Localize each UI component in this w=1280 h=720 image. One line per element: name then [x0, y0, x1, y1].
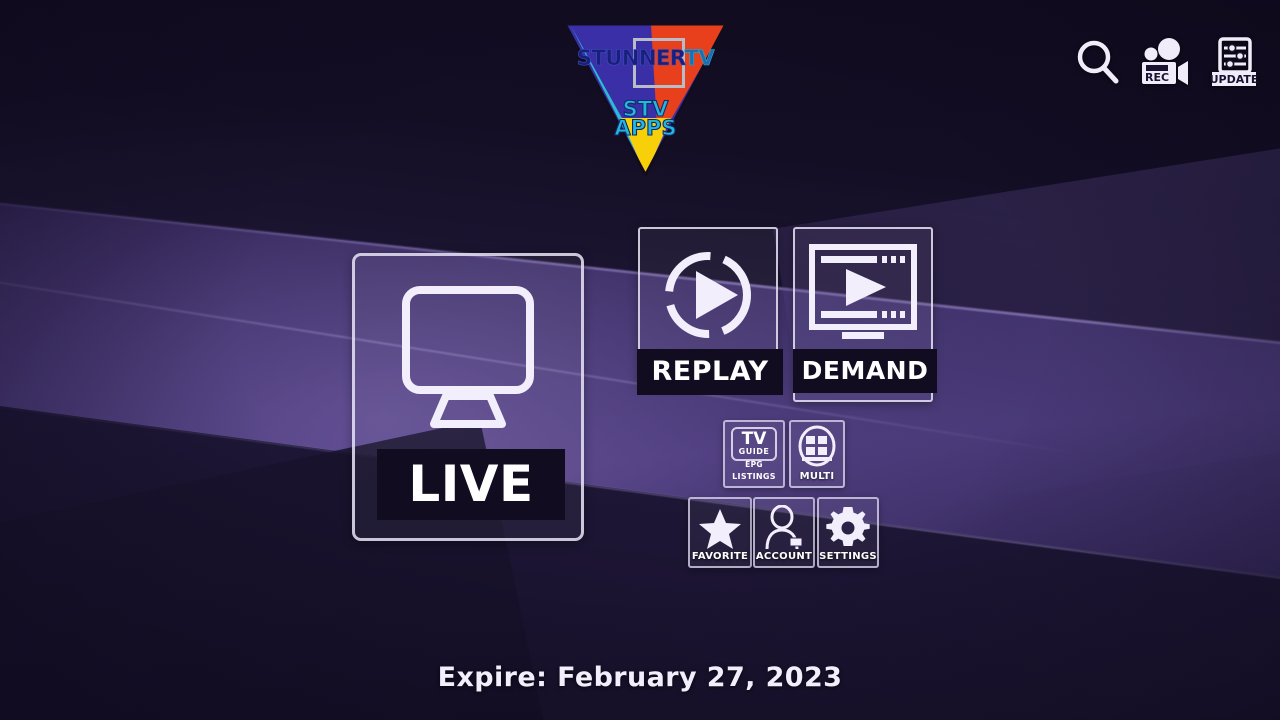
- svg-text:REC: REC: [1145, 71, 1169, 84]
- tv-guide-listings-text: LISTINGS: [725, 472, 783, 481]
- multi-label: MULTI: [791, 471, 843, 482]
- update-icon[interactable]: UPDATE: [1206, 36, 1262, 88]
- search-icon[interactable]: [1072, 36, 1124, 88]
- live-icon-area: [355, 278, 581, 438]
- tile-demand[interactable]: DEMAND: [793, 227, 933, 402]
- account-label: ACCOUNT: [755, 551, 813, 562]
- multi-grid-icon: [794, 425, 840, 469]
- logo-word-apps: APPS: [563, 119, 728, 138]
- live-label: LIVE: [377, 449, 565, 520]
- replay-label: REPLAY: [637, 349, 783, 395]
- tile-live[interactable]: LIVE: [352, 253, 584, 541]
- demand-label: DEMAND: [793, 349, 937, 393]
- logo-wordmark-bottom: STV APPS: [563, 100, 728, 139]
- tile-multi[interactable]: MULTI: [789, 420, 845, 488]
- tv-guide-guide-text: GUIDE: [739, 448, 770, 456]
- svg-text:UPDATE: UPDATE: [1210, 73, 1259, 86]
- favorite-label: FAVORITE: [690, 551, 750, 562]
- settings-label: SETTINGS: [819, 551, 877, 562]
- tile-account[interactable]: ACCOUNT: [753, 497, 815, 568]
- tile-replay[interactable]: REPLAY: [638, 227, 778, 387]
- top-toolbar: REC UPDATE: [1072, 36, 1262, 88]
- monitor-icon: [388, 278, 548, 438]
- tv-guide-epg-text: EPG: [725, 460, 783, 469]
- logo-wordmark-top: STUNNERTV: [563, 48, 728, 69]
- star-icon: [698, 507, 742, 551]
- tile-favorite[interactable]: FAVORITE: [688, 497, 752, 568]
- background-edge-bottom: [0, 398, 1280, 625]
- expire-text: Expire: February 27, 2023: [0, 662, 1280, 693]
- gear-icon: [826, 506, 870, 550]
- user-icon: [762, 505, 806, 551]
- video-monitor-icon: [804, 241, 922, 349]
- logo-word-tv: TV: [685, 46, 715, 70]
- play-circle-icon: [656, 243, 760, 347]
- replay-icon-area: [640, 243, 776, 347]
- rec-icon[interactable]: REC: [1138, 36, 1192, 88]
- home-screen: STUNNERTV STV APPS REC: [0, 0, 1280, 720]
- app-logo: STUNNERTV STV APPS: [563, 22, 728, 182]
- tile-settings[interactable]: SETTINGS: [817, 497, 879, 568]
- tile-tv-guide[interactable]: TV GUIDE EPG LISTINGS: [723, 420, 785, 488]
- demand-icon-area: [795, 241, 931, 349]
- tv-guide-icon: TV GUIDE: [731, 427, 777, 461]
- logo-word-stunner: STUNNER: [577, 46, 685, 70]
- tv-guide-tv-text: TV: [742, 432, 767, 447]
